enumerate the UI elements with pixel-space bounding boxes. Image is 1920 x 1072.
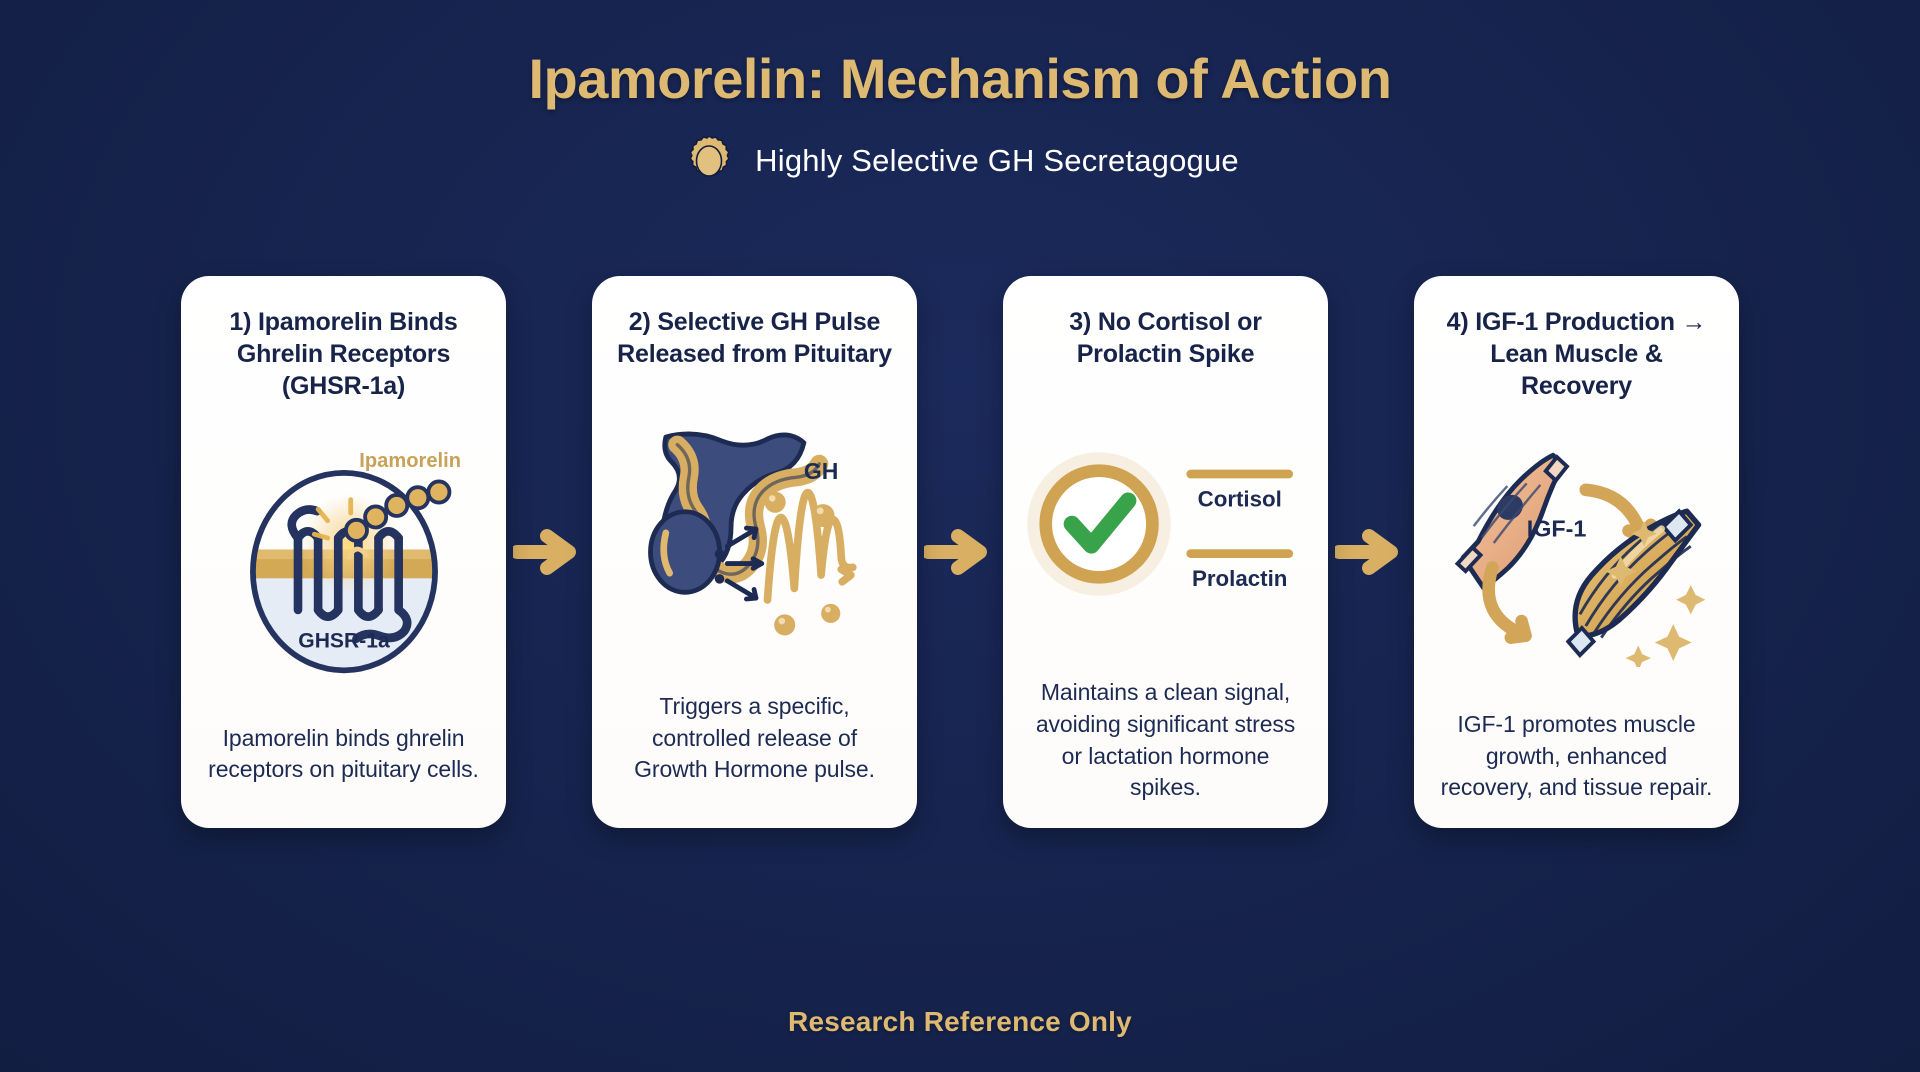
gold-seal-icon: [681, 133, 737, 189]
cortisol-label: Cortisol: [1197, 486, 1281, 511]
pituitary-gh-pulse-illustration: GH: [610, 370, 899, 691]
step-2-title: 2) Selective GH Pulse Released from Pitu…: [610, 306, 899, 370]
step-card-1[interactable]: 1) Ipamorelin Binds Ghrelin Receptors (G…: [181, 276, 506, 828]
arrow-3-to-4: [1328, 276, 1414, 828]
arrow-2-to-3: [917, 276, 1003, 828]
step-3-body: Maintains a clean signal, avoiding signi…: [1021, 677, 1310, 808]
gh-label: GH: [803, 459, 838, 485]
peptide-label: Ipamorelin: [359, 450, 461, 472]
receptor-binding-illustration: Ipamorelin GHSR-1a: [199, 402, 488, 723]
cortisol-strike-line: [1186, 469, 1293, 478]
step-4-title: 4) IGF-1 Production → Lean Muscle & Reco…: [1432, 306, 1721, 402]
step-1-body: Ipamorelin binds ghrelin receptors on pi…: [199, 723, 488, 808]
subtitle-row: Highly Selective GH Secretagogue: [0, 133, 1920, 189]
step-card-3[interactable]: 3) No Cortisol or Prolactin Spike Cortis…: [1003, 276, 1328, 828]
receptor-label: GHSR-1a: [298, 630, 390, 653]
step-card-2[interactable]: 2) Selective GH Pulse Released from Pitu…: [592, 276, 917, 828]
arrow-1-to-2: [506, 276, 592, 828]
igf1-muscle-growth-illustration: IGF-1: [1432, 402, 1721, 709]
step-2-body: Triggers a specific, controlled release …: [610, 691, 899, 808]
footer-note: Research Reference Only: [0, 1006, 1920, 1038]
step-card-4[interactable]: 4) IGF-1 Production → Lean Muscle & Reco…: [1414, 276, 1739, 828]
prolactin-label: Prolactin: [1192, 566, 1287, 591]
no-cortisol-prolactin-illustration: Cortisol Prolactin: [1021, 370, 1310, 677]
steps-strip: 1) Ipamorelin Binds Ghrelin Receptors (G…: [0, 276, 1920, 828]
subtitle-text: Highly Selective GH Secretagogue: [755, 143, 1239, 179]
step-1-title: 1) Ipamorelin Binds Ghrelin Receptors (G…: [199, 306, 488, 402]
header: Ipamorelin: Mechanism of Action Highly S…: [0, 0, 1920, 189]
prolactin-strike-line: [1186, 549, 1293, 558]
step-4-body: IGF-1 promotes muscle growth, enhanced r…: [1432, 709, 1721, 808]
infographic-page: Ipamorelin: Mechanism of Action Highly S…: [0, 0, 1920, 1072]
step-3-title: 3) No Cortisol or Prolactin Spike: [1021, 306, 1310, 370]
page-title: Ipamorelin: Mechanism of Action: [0, 46, 1920, 111]
igf1-label: IGF-1: [1526, 516, 1586, 542]
